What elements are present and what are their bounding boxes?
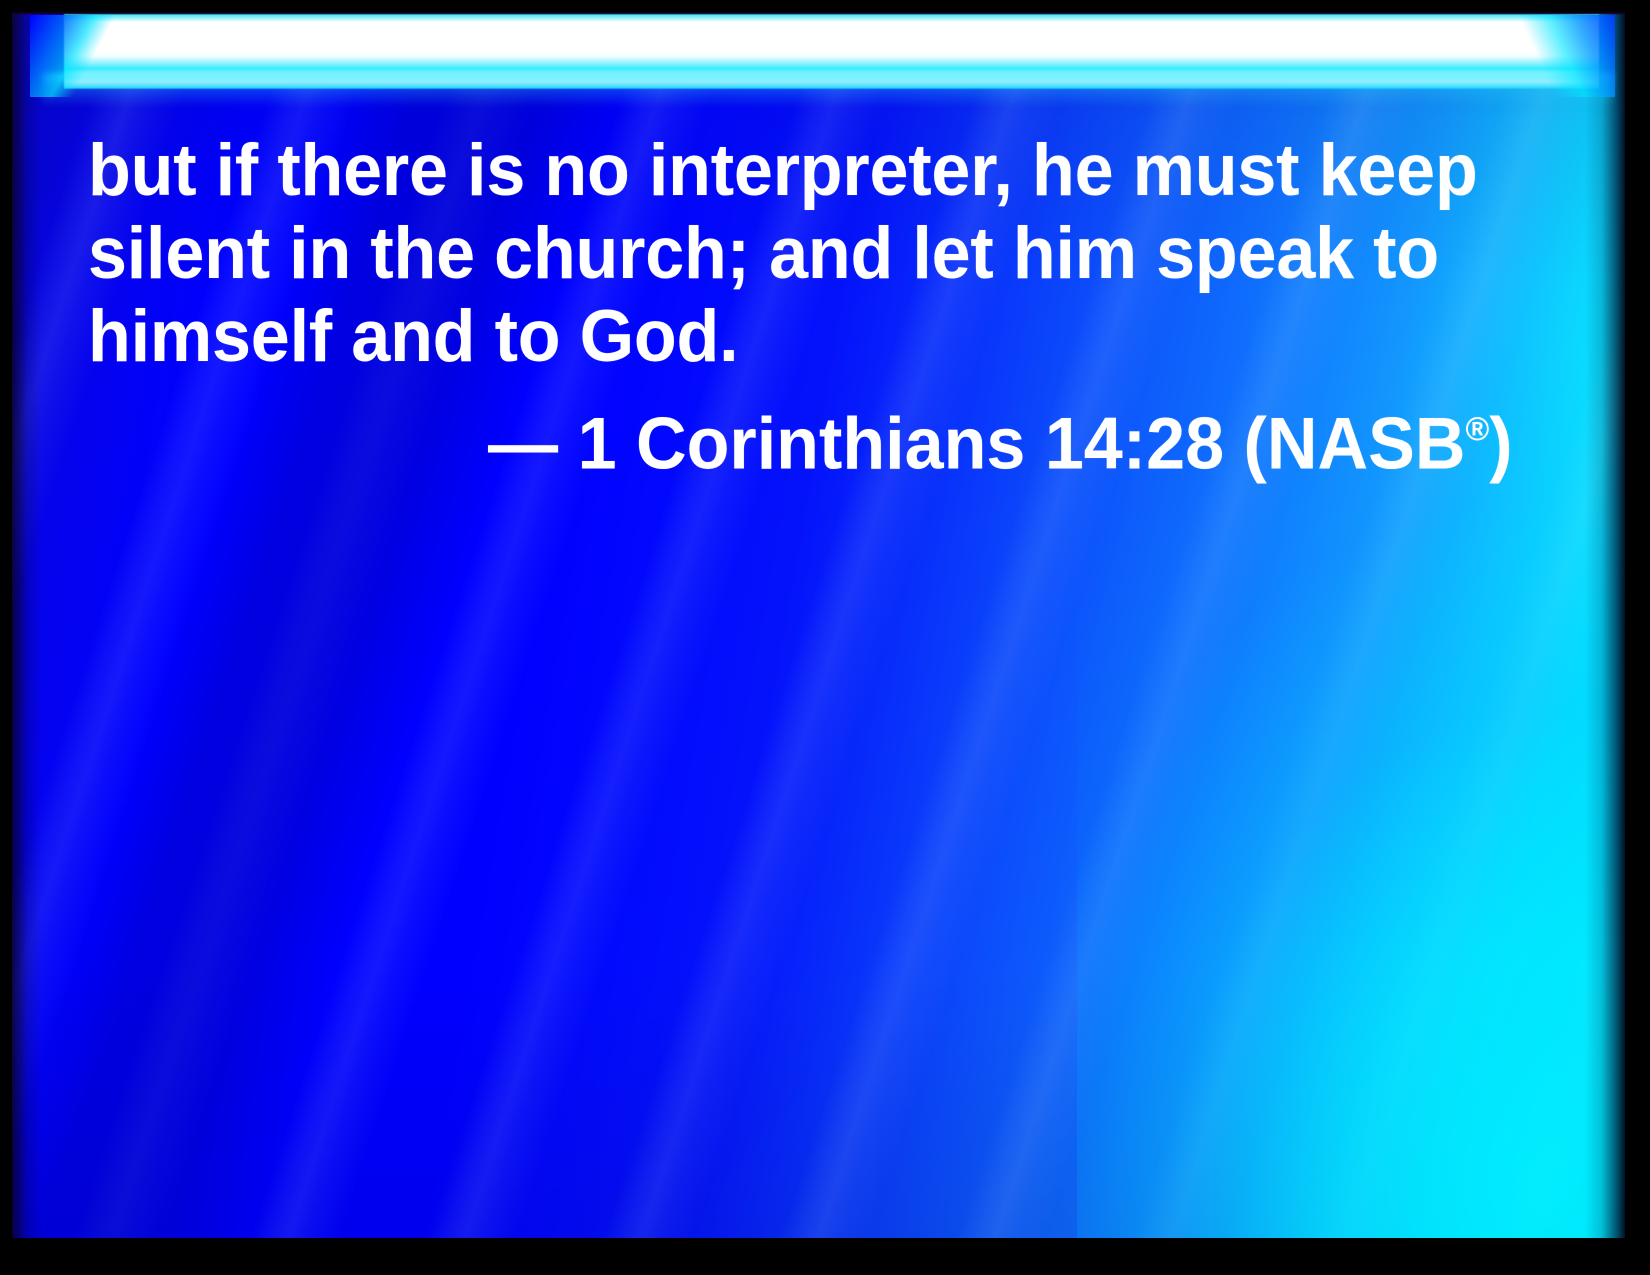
verse-text-block: but if there is no interpreter, he must … [88,129,1548,486]
background-right-vignette [1585,11,1625,1238]
attribution-reference: 1 Corinthians 14:28 (NASB [578,404,1466,485]
top-glow-bar [12,11,1625,97]
verse-line-2: silent in the church; and let him speak … [88,212,1490,295]
registered-trademark-icon: ® [1465,411,1489,448]
glow-bar-left-taper [30,15,140,97]
attribution-closing-paren: ) [1489,404,1512,485]
verse-slide: but if there is no interpreter, he must … [0,0,1650,1275]
attribution-em-dash: — [488,404,558,485]
attribution-spacer [558,404,577,485]
verse-line-1: but if there is no interpreter, he must … [88,129,1490,212]
glow-bar-halo [42,73,1613,107]
glow-bar-right-taper [1485,15,1615,97]
slide-canvas: but if there is no interpreter, he must … [12,11,1625,1238]
verse-attribution: — 1 Corinthians 14:28 (NASB®) [488,388,1506,486]
slide-top-edge [12,11,1625,15]
verse-line-3: himself and to God. [88,295,1490,378]
background-left-vignette [12,11,42,1238]
